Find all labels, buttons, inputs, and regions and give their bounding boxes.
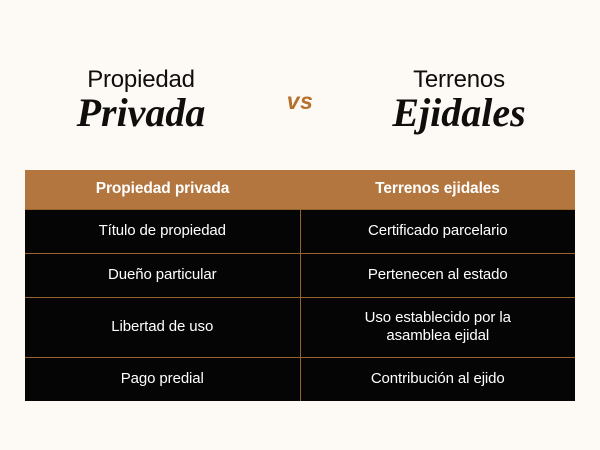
cell-left: Pago predial: [25, 358, 300, 401]
heading-vs-separator: vs: [266, 88, 334, 115]
heading-left-top-word: Propiedad: [87, 68, 195, 92]
table-row: Pago predial Contribución al ejido: [25, 358, 575, 401]
table-header-row: Propiedad privada Terrenos ejidales: [25, 170, 575, 210]
cell-text: Pago predial: [39, 370, 286, 389]
cell-right: Uso establecido por la asamblea ejidal: [300, 297, 575, 358]
table-row: Libertad de uso Uso establecido por la a…: [25, 297, 575, 358]
cell-text: Pertenecen al estado: [315, 266, 562, 285]
comparison-heading: Propiedad Privada vs Terrenos Ejidales: [0, 58, 600, 144]
table-row: Dueño particular Pertenecen al estado: [25, 253, 575, 297]
cell-left: Título de propiedad: [25, 210, 300, 254]
heading-right-title: Terrenos Ejidales: [334, 68, 584, 134]
cell-text-line-1: Uso establecido por la: [315, 309, 562, 328]
heading-right-bottom-word: Ejidales: [392, 93, 525, 134]
table-row: Título de propiedad Certificado parcelar…: [25, 210, 575, 254]
vs-label: vs: [287, 88, 314, 115]
cell-right: Contribución al ejido: [300, 358, 575, 401]
heading-left-bottom-word: Privada: [77, 93, 206, 134]
cell-left: Dueño particular: [25, 253, 300, 297]
column-header-propiedad-privada: Propiedad privada: [25, 170, 300, 210]
cell-text: Contribución al ejido: [315, 370, 562, 389]
heading-left-title: Propiedad Privada: [16, 68, 266, 134]
cell-right: Pertenecen al estado: [300, 253, 575, 297]
comparison-table: Propiedad privada Terrenos ejidales Títu…: [25, 170, 575, 401]
cell-text: Certificado parcelario: [315, 222, 562, 241]
cell-right: Certificado parcelario: [300, 210, 575, 254]
cell-text: Libertad de uso: [39, 318, 286, 337]
cell-text-line-2: asamblea ejidal: [315, 327, 562, 346]
heading-right-top-word: Terrenos: [413, 68, 505, 92]
comparison-infographic: Propiedad Privada vs Terrenos Ejidales P…: [0, 0, 600, 450]
cell-text: Título de propiedad: [39, 222, 286, 241]
column-header-terrenos-ejidales: Terrenos ejidales: [300, 170, 575, 210]
cell-text: Dueño particular: [39, 266, 286, 285]
cell-left: Libertad de uso: [25, 297, 300, 358]
